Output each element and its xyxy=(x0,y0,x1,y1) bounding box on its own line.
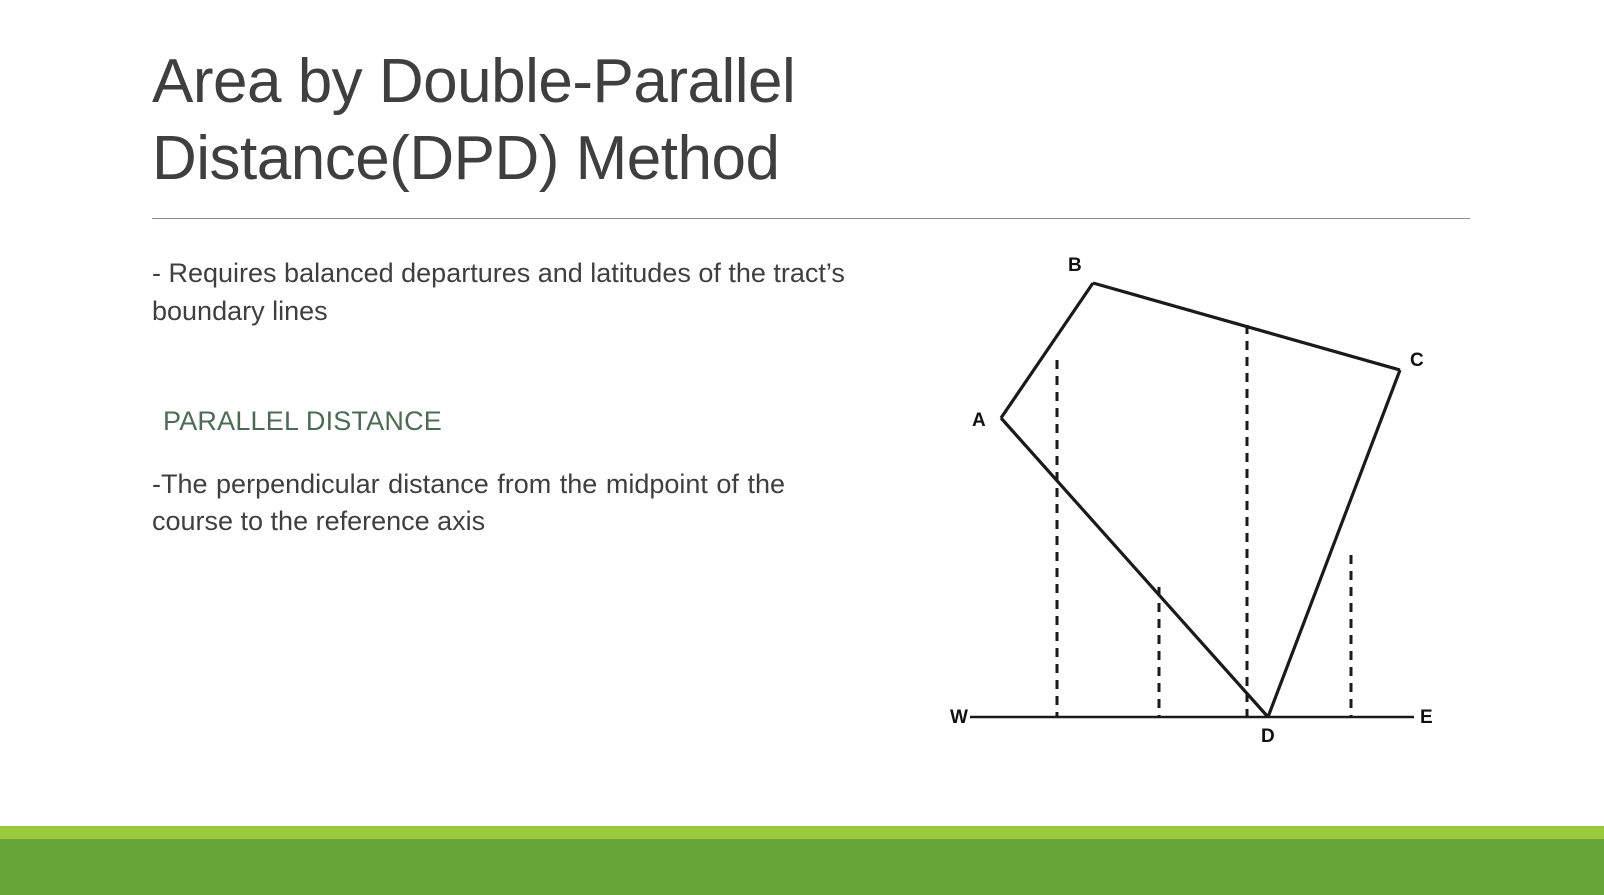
footer-band-light xyxy=(0,826,1604,839)
vertex-label-b: B xyxy=(1068,255,1082,276)
parallel-distance-lines-group xyxy=(1057,325,1351,717)
bullet-requires-balanced: - Requires balanced departures and latit… xyxy=(152,254,924,331)
course-line-ab xyxy=(1001,283,1093,418)
subheading-parallel-distance: PARALLEL DISTANCE xyxy=(163,404,923,439)
course-line-da xyxy=(1001,418,1268,717)
vertex-label-d: D xyxy=(1261,726,1275,747)
vertex-label-c: C xyxy=(1410,350,1424,371)
axis-label-east: E xyxy=(1420,707,1433,728)
vertex-label-a: A xyxy=(972,410,986,431)
bullet-perpendicular-distance: -The perpendicular distance from the mid… xyxy=(152,466,785,541)
course-line-bc xyxy=(1093,283,1400,370)
footer-band-dark xyxy=(0,839,1604,895)
axis-label-west: W xyxy=(950,707,968,728)
course-line-cd xyxy=(1268,370,1400,717)
title-divider xyxy=(152,218,1470,219)
slide-canvas: Area by Double-Parallel Distance(DPD) Me… xyxy=(0,0,1604,895)
page-title: Area by Double-Parallel Distance(DPD) Me… xyxy=(152,44,1472,198)
dpd-diagram: A B C D W E xyxy=(944,240,1464,760)
dpd-diagram-svg: A B C D W E xyxy=(944,240,1464,760)
tract-boundary-group xyxy=(1001,283,1400,717)
